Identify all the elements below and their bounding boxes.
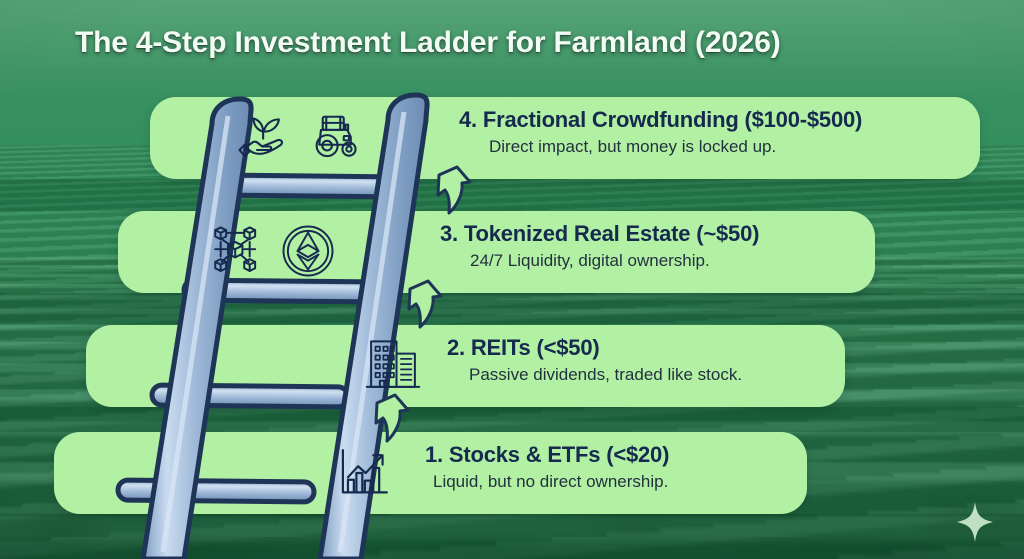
hand-holding-plant-icon xyxy=(236,108,292,164)
separator-band xyxy=(0,293,1024,325)
step-3-icons xyxy=(208,222,336,280)
step-2-subtitle: Passive dividends, traded like stock. xyxy=(469,366,742,385)
infographic-canvas: The 4-Step Investment Ladder for Farmlan… xyxy=(0,0,1024,559)
step-1-title: 1. Stocks & ETFs (<$20) xyxy=(425,443,669,466)
tractor-icon xyxy=(306,108,364,164)
step-4-title: 4. Fractional Crowdfunding ($100-$500) xyxy=(459,108,862,131)
up-arrow-to-step-2 xyxy=(396,277,444,336)
office-building-icon xyxy=(364,337,422,393)
step-3-text: 3. Tokenized Real Estate (~$50) 24/7 Liq… xyxy=(440,222,759,271)
bar-chart-growth-icon xyxy=(336,446,392,500)
separator-band xyxy=(0,179,1024,211)
up-arrow-to-step-1 xyxy=(363,391,411,450)
separator-band xyxy=(0,514,1024,559)
step-1-icons xyxy=(336,446,392,500)
up-arrow-to-step-3 xyxy=(425,163,473,222)
step-3-title: 3. Tokenized Real Estate (~$50) xyxy=(440,222,759,245)
step-3-subtitle: 24/7 Liquidity, digital ownership. xyxy=(470,252,759,271)
separator-band xyxy=(0,407,1024,432)
step-1-text: 1. Stocks & ETFs (<$20) Liquid, but no d… xyxy=(425,443,669,492)
step-4-icons xyxy=(236,108,364,164)
four-point-sparkle-icon xyxy=(955,500,995,549)
step-2-icons xyxy=(364,337,422,393)
ethereum-coin-icon xyxy=(280,223,336,279)
step-2-text: 2. REITs (<$50) Passive dividends, trade… xyxy=(447,336,742,385)
blockchain-nodes-icon xyxy=(208,222,266,280)
page-title: The 4-Step Investment Ladder for Farmlan… xyxy=(75,26,781,60)
step-2-title: 2. REITs (<$50) xyxy=(447,336,742,359)
step-4-subtitle: Direct impact, but money is locked up. xyxy=(489,138,862,157)
step-1-subtitle: Liquid, but no direct ownership. xyxy=(433,473,669,492)
step-4-text: 4. Fractional Crowdfunding ($100-$500) D… xyxy=(459,108,862,157)
